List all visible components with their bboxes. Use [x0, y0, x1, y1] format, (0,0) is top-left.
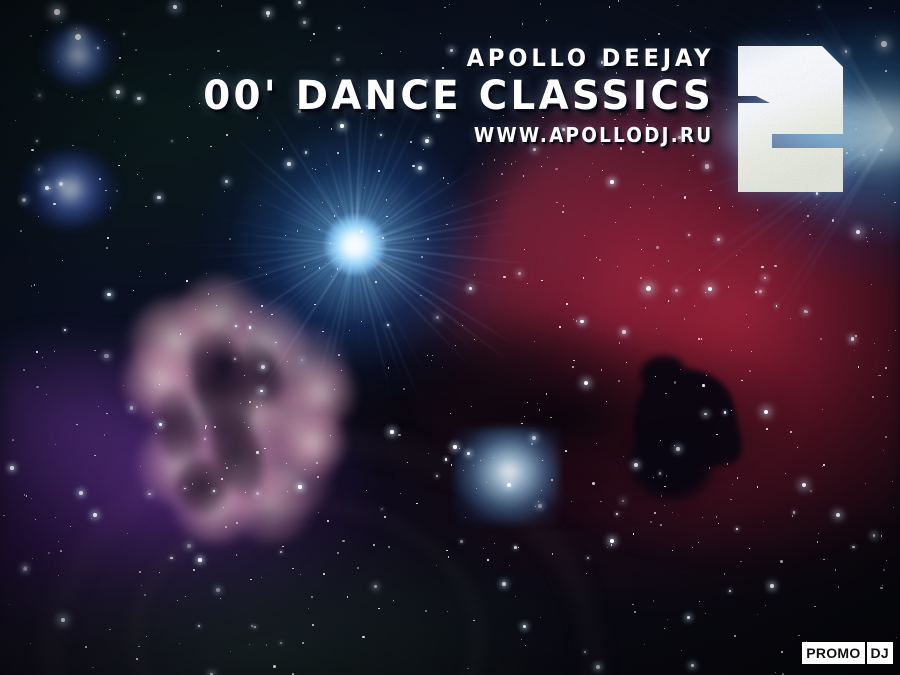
- website-url: WWW.APOLLODJ.RU: [57, 125, 718, 145]
- promodj-watermark: PROMO DJ: [802, 642, 893, 664]
- artist-name: APOLLO DEEJAY: [43, 46, 718, 70]
- promodj-label-secondary: DJ: [867, 642, 893, 664]
- title-block: APOLLO DEEJAY 00' DANCE CLASSICS WWW.APO…: [0, 46, 718, 145]
- promodj-label-primary: PROMO: [802, 642, 864, 664]
- album-title: 00' DANCE CLASSICS: [22, 76, 718, 116]
- album-cover: APOLLO DEEJAY 00' DANCE CLASSICS WWW.APO…: [0, 0, 900, 675]
- apollo-logo-icon: [738, 46, 843, 192]
